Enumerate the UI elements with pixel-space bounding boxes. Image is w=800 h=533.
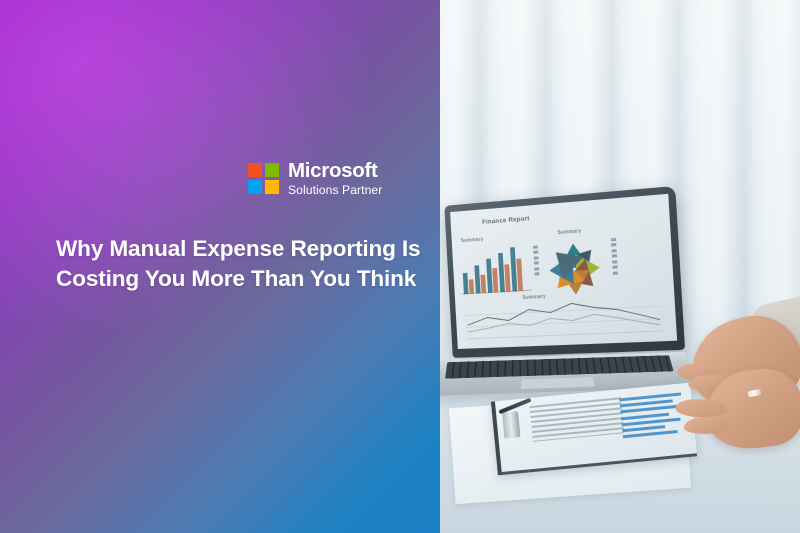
logo-wordmark: Microsoft Solutions Partner <box>288 160 382 197</box>
red-square <box>248 163 262 177</box>
headline-line-1: Why Manual Expense Reporting Is <box>56 234 428 264</box>
microsoft-logo-icon <box>248 163 279 194</box>
logo-microsoft-text: Microsoft <box>288 160 382 182</box>
marketing-banner: Finance Report Summary <box>0 0 800 533</box>
yellow-square <box>265 180 279 194</box>
green-square <box>265 163 279 177</box>
microsoft-solutions-partner-logo: Microsoft Solutions Partner <box>248 160 382 197</box>
logo-tagline-text: Solutions Partner <box>288 184 382 197</box>
blue-square <box>248 180 262 194</box>
headline: Why Manual Expense Reporting Is Costing … <box>56 234 428 294</box>
headline-line-2: Costing You More Than You Think <box>56 264 428 294</box>
